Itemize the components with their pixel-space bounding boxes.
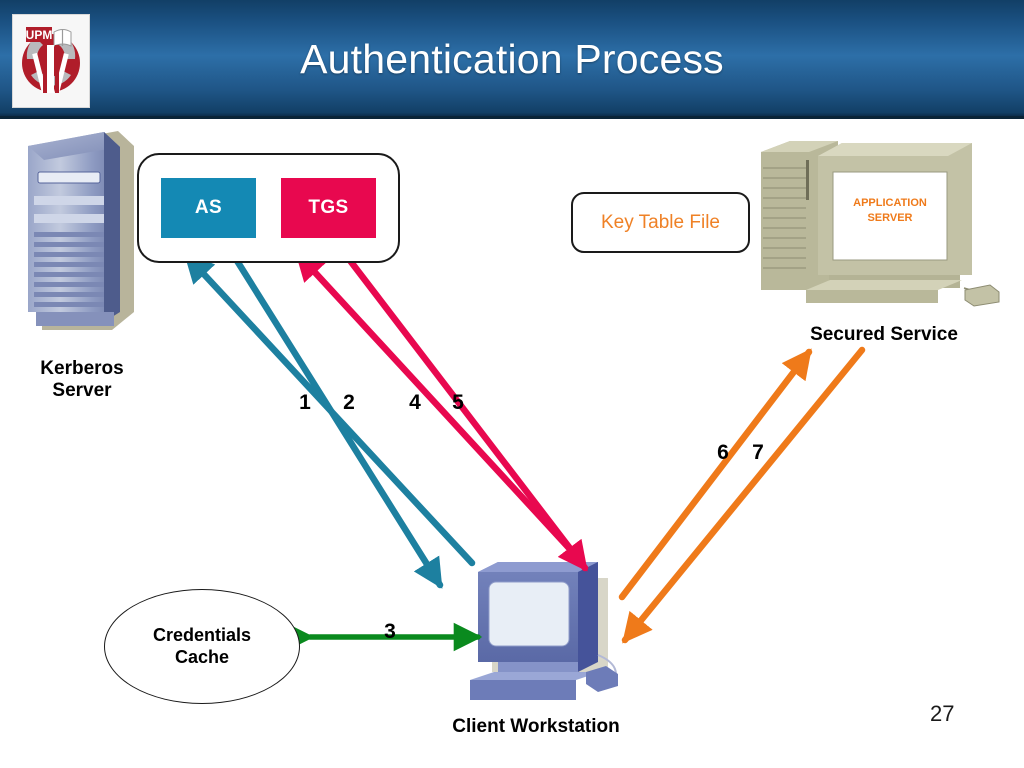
tgs-label: TGS: [308, 197, 348, 219]
flow-arrow-2: [234, 256, 440, 585]
flow-label-3: 3: [379, 620, 401, 644]
kerberos-server-graphic: [28, 131, 134, 330]
application-server-screen-line1: APPLICATION: [853, 197, 927, 209]
key-table-file-label: Key Table File: [601, 212, 720, 234]
credentials-cache-node[interactable]: Credentials Cache: [104, 589, 300, 704]
tgs-node[interactable]: TGS: [281, 178, 376, 238]
application-server-graphic: APPLICATION SERVER: [761, 141, 999, 306]
as-node[interactable]: AS: [161, 178, 256, 238]
kerberos-server-label: Kerberos Server: [18, 358, 146, 403]
flow-label-7: 7: [747, 441, 769, 465]
secured-service-label: Secured Service: [760, 324, 1008, 346]
flow-arrow-6: [622, 352, 809, 597]
credentials-cache-label: Credentials Cache: [153, 625, 251, 668]
key-table-file-node[interactable]: Key Table File: [571, 192, 750, 253]
client-workstation-graphic: [470, 562, 618, 700]
flow-label-1: 1: [294, 391, 316, 415]
application-server-screen-line2: SERVER: [867, 212, 912, 224]
page-number: 27: [930, 701, 954, 727]
flow-label-5: 5: [447, 391, 469, 415]
flow-label-6: 6: [712, 441, 734, 465]
client-workstation-label: Client Workstation: [408, 716, 664, 738]
as-label: AS: [195, 197, 222, 219]
flow-arrow-7: [625, 350, 862, 640]
flow-label-4: 4: [404, 391, 426, 415]
flow-label-2: 2: [338, 391, 360, 415]
